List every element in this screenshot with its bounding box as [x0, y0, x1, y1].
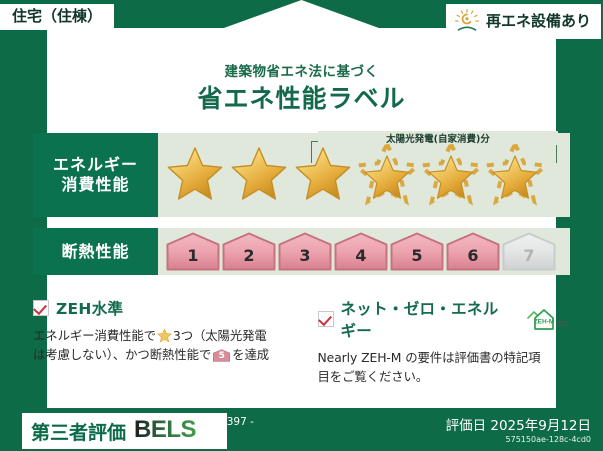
insulation-badge-value: 4 — [334, 232, 388, 271]
label-title: 省エネ性能ラベル — [0, 79, 603, 115]
zeh-m-logo: ZEH-M Nearly ZEH-M — [524, 307, 570, 331]
energy-label-line2: 消費性能 — [61, 175, 129, 195]
insulation-levels-area: 1234567 — [158, 228, 570, 275]
insulation-performance-row: 断熱性能 1234567 — [33, 228, 570, 275]
energy-label-line1: エネルギー — [53, 155, 138, 175]
svg-text:BELS: BELS — [134, 416, 197, 442]
inline-insulation-badge: 5 — [213, 348, 230, 363]
evaluation-info: 評価日 2025年9月12日 575150ae-128c-4cd0 — [446, 414, 591, 444]
insulation-badge-active: 4 — [334, 232, 388, 271]
zeh-desc-part3: は考慮しない）、かつ断熱性能で — [33, 347, 211, 362]
evaluation-date: 評価日 2025年9月12日 — [446, 414, 591, 434]
energy-performance-label-block: エネルギー 消費性能 — [33, 133, 158, 217]
house-type-badge: 住宅（住棟） — [0, 4, 114, 30]
zeh-standard-title: ZEH水準 — [56, 297, 123, 319]
zeh-desc-part4: を達成 — [232, 347, 269, 362]
insulation-badge-value: 2 — [222, 232, 276, 271]
zeh-standard-checkbox[interactable] — [33, 300, 49, 316]
net-zero-head: ネット・ゼロ・エネルギー ZEH-M Nearly ZEH-M — [318, 297, 571, 341]
insulation-badge-active: 6 — [446, 232, 500, 271]
insulation-label-block: 断熱性能 — [33, 228, 158, 275]
insulation-badge-value: 5 — [390, 232, 444, 271]
third-party-label: 第三者評価 — [31, 418, 126, 445]
certificate-number: 0282397 - 01 — [200, 416, 290, 442]
zeh-standard-description: エネルギー消費性能で3つ（太陽光発電は考慮しない）、かつ断熱性能で5を達成 — [33, 326, 302, 364]
zeh-m-sub2: ZEH-M — [557, 324, 568, 328]
star-solid — [228, 144, 290, 206]
insulation-level-list: 1234567 — [158, 232, 556, 271]
energy-stars-area: 太陽光発電(自家消費)分 — [158, 133, 570, 217]
net-zero-desc-line2: 目をご覧ください。 — [318, 369, 429, 384]
star-solar — [420, 144, 482, 206]
solar-bracket-note: 太陽光発電(自家消費)分 — [318, 131, 558, 145]
bels-logo-box: 第三者評価 BELS — [22, 413, 227, 449]
zeh-standard-head: ZEH水準 — [33, 297, 302, 319]
insulation-label: 断熱性能 — [61, 242, 129, 262]
star-solar — [356, 144, 418, 206]
net-zero-checkbox[interactable] — [318, 311, 334, 327]
sun-icon — [454, 8, 480, 34]
inline-badge-value: 5 — [213, 348, 230, 363]
zeh-desc-part2: 3つ（太陽光発電 — [173, 328, 267, 343]
criteria-section: ZEH水準 エネルギー消費性能で3つ（太陽光発電は考慮しない）、かつ断熱性能で5… — [33, 297, 570, 381]
label-subtitle: 建築物省エネ法に基づく — [0, 60, 603, 80]
renewable-equipment-badge: 再エネ設備あり — [446, 4, 601, 39]
house-type-label: 住宅（住棟） — [12, 7, 102, 25]
insulation-badge-value: 6 — [446, 232, 500, 271]
inline-star-icon — [157, 328, 172, 343]
insulation-badge-active: 3 — [278, 232, 332, 271]
energy-performance-label: 住宅（住棟） 再エネ設備あり 建築物省エネ法に基づく 省エネ性能ラベル エネルギ… — [0, 0, 603, 451]
svg-text:ZEH-M: ZEH-M — [534, 319, 555, 326]
star-solid — [292, 144, 354, 206]
star-solar — [484, 144, 546, 206]
zeh-m-house-icon: ZEH-M Nearly ZEH-M — [524, 307, 570, 331]
insulation-badge-active: 1 — [166, 232, 220, 271]
cert-no-line1: 0282397 - — [200, 416, 290, 429]
zeh-standard-block: ZEH水準 エネルギー消費性能で3つ（太陽光発電は考慮しない）、かつ断熱性能で5… — [33, 297, 302, 381]
net-zero-description: Nearly ZEH-M の要件は評価書の特記項目をご覧ください。 — [318, 348, 571, 386]
insulation-badge-value: 7 — [502, 232, 556, 271]
insulation-badge-value: 1 — [166, 232, 220, 271]
insulation-badge-active: 5 — [390, 232, 444, 271]
energy-performance-row: エネルギー 消費性能 太陽光発電(自家消費)分 — [33, 133, 570, 217]
insulation-badge-value: 3 — [278, 232, 332, 271]
document-hash: 575150ae-128c-4cd0 — [446, 435, 591, 444]
insulation-badge-active: 2 — [222, 232, 276, 271]
insulation-badge-inactive: 7 — [502, 232, 556, 271]
renewable-label: 再エネ設備あり — [486, 14, 591, 29]
net-zero-energy-block: ネット・ゼロ・エネルギー ZEH-M Nearly ZEH-M Nearly Z… — [302, 297, 571, 381]
footer-bar: 第三者評価 BELS 0282397 - 01 評価日 — [0, 408, 603, 451]
net-zero-title: ネット・ゼロ・エネルギー — [341, 297, 513, 341]
star-solid — [164, 144, 226, 206]
cert-no-line2: 01 — [200, 429, 290, 442]
zeh-desc-part1: エネルギー消費性能で — [33, 328, 156, 343]
star-rating — [158, 144, 546, 206]
net-zero-desc-line1: Nearly ZEH-M の要件は評価書の特記項 — [318, 350, 541, 365]
